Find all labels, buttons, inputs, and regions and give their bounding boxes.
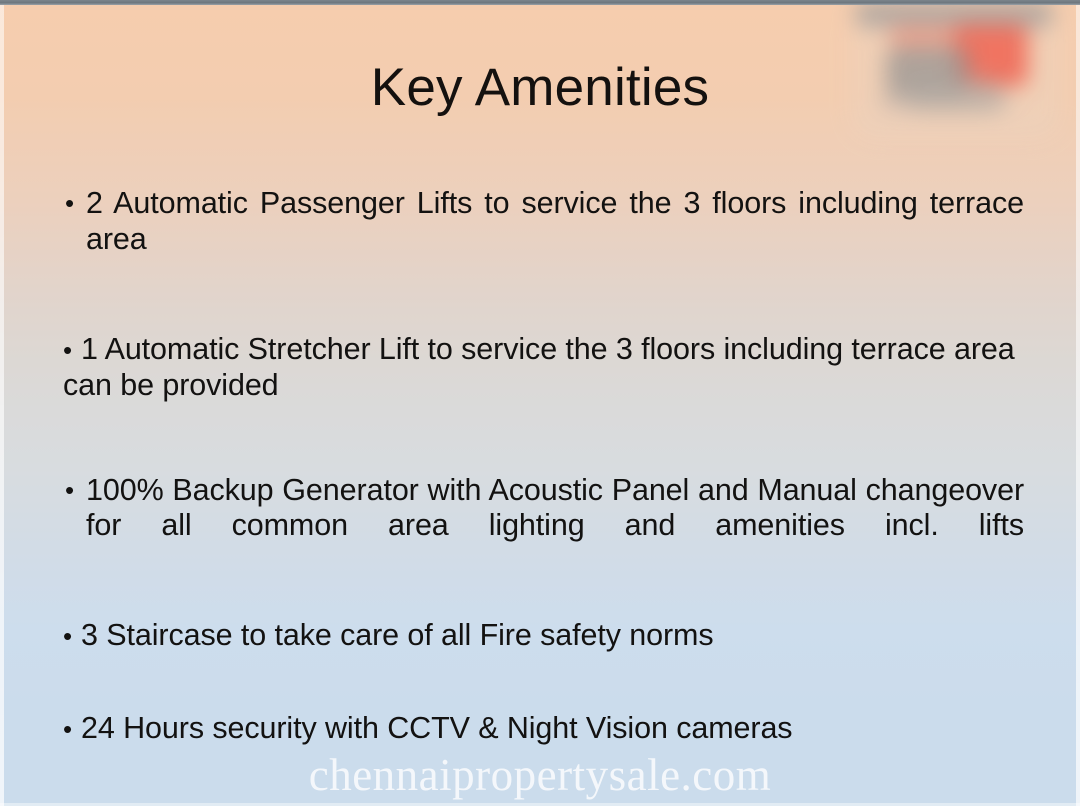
- bullet-marker-icon: •: [63, 619, 72, 655]
- list-item-staircase: •3 Staircase to take care of all Fire sa…: [56, 618, 1024, 655]
- logo-red-secondary: [890, 26, 962, 46]
- slide-title: Key Amenities: [0, 56, 1080, 120]
- window-top-bar: [0, 0, 1080, 5]
- site-watermark: chennaipropertysale.com: [0, 750, 1080, 800]
- bullet-marker-icon: •: [63, 333, 72, 369]
- list-item-passenger-lifts: •2 Automatic Passenger Lifts to service …: [56, 186, 1024, 293]
- bullet-marker-icon: •: [65, 186, 74, 222]
- slide-left-edge: [0, 5, 4, 806]
- list-item-text: 2 Automatic Passenger Lifts to service t…: [86, 186, 1024, 256]
- list-item-text: 24 Hours security with CCTV & Night Visi…: [81, 711, 792, 745]
- bullet-marker-icon: •: [63, 712, 72, 748]
- slide-right-edge: [1076, 5, 1080, 806]
- bullet-marker-icon: •: [65, 473, 74, 509]
- list-item-stretcher-lift: •1 Automatic Stretcher Lift to service t…: [56, 332, 1024, 404]
- list-item-backup-generator: •100% Backup Generator with Acoustic Pan…: [56, 473, 1024, 580]
- list-item-security: •24 Hours security with CCTV & Night Vis…: [56, 711, 1024, 748]
- list-item-text: 100% Backup Generator with Acoustic Pane…: [86, 473, 1024, 543]
- list-item-text: 3 Staircase to take care of all Fire saf…: [81, 618, 713, 652]
- bullet-list: •2 Automatic Passenger Lifts to service …: [56, 186, 1024, 747]
- slide-canvas: Key Amenities •2 Automatic Passenger Lif…: [0, 0, 1080, 806]
- list-item-text: 1 Automatic Stretcher Lift to service th…: [63, 332, 1015, 403]
